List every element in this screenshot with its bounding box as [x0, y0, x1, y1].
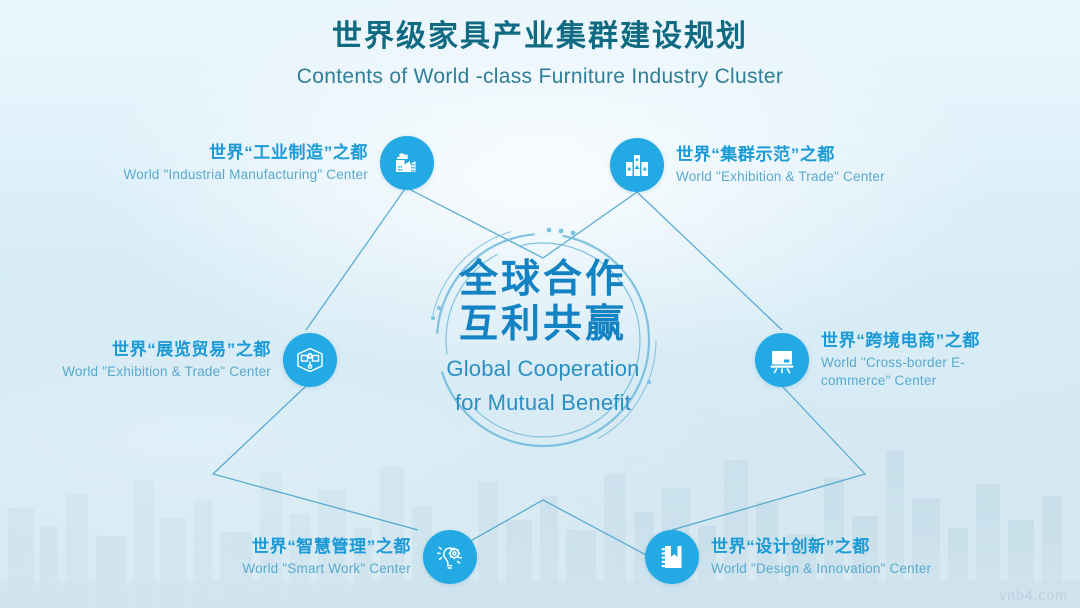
center-emblem: 全球合作 互利共赢 Global Cooperation for Mutual … [417, 242, 669, 432]
node-bottom-left-label-en: World "Smart Work" Center [242, 560, 411, 578]
notebook-icon[interactable] [645, 530, 699, 584]
node-middle-right[interactable]: 世界“跨境电商”之都 World "Cross-border E-commerc… [755, 330, 1031, 389]
center-title-cn-line2: 互利共赢 [459, 302, 627, 347]
lightbulb-gear-icon[interactable] [423, 530, 477, 584]
node-top-left-label-cn: 世界“工业制造”之都 [124, 142, 369, 164]
node-top-right-label-en: World "Exhibition & Trade" Center [676, 168, 885, 186]
center-title-en-line2: for Mutual Benefit [455, 389, 631, 417]
node-middle-left-label: 世界“展览贸易”之都 World "Exhibition & Trade" Ce… [62, 339, 271, 381]
node-top-right-label-cn: 世界“集群示范”之都 [676, 144, 885, 166]
center-text-block: 全球合作 互利共赢 Global Cooperation for Mutual … [417, 242, 669, 432]
center-title-en-line1: Global Cooperation [446, 355, 639, 383]
node-top-right-label: 世界“集群示范”之都 World "Exhibition & Trade" Ce… [676, 144, 885, 186]
node-middle-left-label-cn: 世界“展览贸易”之都 [62, 339, 271, 361]
node-top-left-label: 世界“工业制造”之都 World "Industrial Manufacturi… [124, 142, 369, 184]
node-middle-right-label-en: World "Cross-border E-commerce" Center [821, 354, 1031, 389]
node-bottom-right-label: 世界“设计创新”之都 World "Design & Innovation" C… [711, 536, 931, 578]
node-bottom-right-label-en: World "Design & Innovation" Center [711, 560, 931, 578]
exhibition-booth-icon[interactable] [283, 333, 337, 387]
infographic-canvas: 世界级家具产业集群建设规划 Contents of World -class F… [0, 0, 1080, 608]
node-middle-right-label: 世界“跨境电商”之都 World "Cross-border E-commerc… [821, 330, 1031, 389]
node-top-right[interactable]: 世界“集群示范”之都 World "Exhibition & Trade" Ce… [610, 138, 885, 192]
buildings-icon[interactable] [610, 138, 664, 192]
page-header: 世界级家具产业集群建设规划 Contents of World -class F… [0, 18, 1080, 89]
page-title-cn: 世界级家具产业集群建设规划 [0, 18, 1080, 56]
node-bottom-left[interactable]: 世界“智慧管理”之都 World "Smart Work" Center [0, 530, 477, 584]
node-bottom-left-label-cn: 世界“智慧管理”之都 [242, 536, 411, 558]
factory-icon[interactable] [380, 136, 434, 190]
center-title-cn-line1: 全球合作 [459, 257, 627, 302]
page-title-en: Contents of World -class Furniture Indus… [0, 65, 1080, 89]
node-bottom-right-label-cn: 世界“设计创新”之都 [711, 536, 931, 558]
node-top-left[interactable]: 世界“工业制造”之都 World "Industrial Manufacturi… [0, 136, 434, 190]
presentation-board-icon[interactable] [755, 333, 809, 387]
node-middle-right-label-cn: 世界“跨境电商”之都 [821, 330, 1031, 352]
node-bottom-left-label: 世界“智慧管理”之都 World "Smart Work" Center [242, 536, 411, 578]
node-top-left-label-en: World "Industrial Manufacturing" Center [124, 166, 369, 184]
node-bottom-right[interactable]: 世界“设计创新”之都 World "Design & Innovation" C… [645, 530, 931, 584]
node-middle-left-label-en: World "Exhibition & Trade" Center [62, 363, 271, 381]
watermark: vnb4.com [999, 587, 1068, 603]
node-middle-left[interactable]: 世界“展览贸易”之都 World "Exhibition & Trade" Ce… [0, 333, 337, 387]
